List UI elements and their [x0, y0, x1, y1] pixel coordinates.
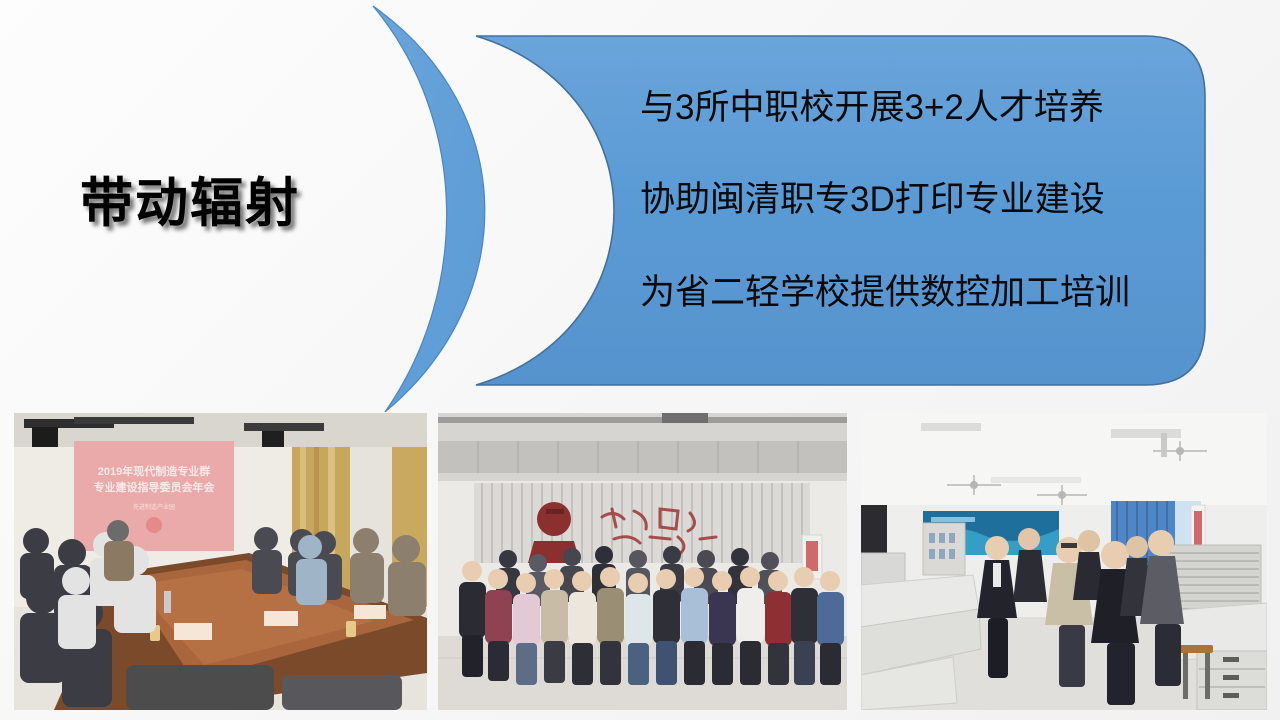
svg-text:专业建设指导委员会年会: 专业建设指导委员会年会	[94, 480, 216, 494]
photo-group-portrait	[438, 413, 847, 710]
callout-line-2: 协助闽清职专3D打印专业建设	[640, 180, 1200, 220]
callout-text-block: 与3所中职校开展3+2人才培养 协助闽清职专3D打印专业建设 为省二轻学校提供数…	[640, 88, 1200, 313]
photo-conference-room: 2019年现代制造专业群 专业建设指导委员会年会 先进制造产业园	[14, 413, 427, 710]
svg-text:2019年现代制造专业群: 2019年现代制造专业群	[98, 464, 210, 478]
diagram-region: 带动辐射 与3所中职校开展3+2人才培养 协助闽清职专3D打印专业建设 为省二轻…	[0, 0, 1280, 412]
callout-line-1: 与3所中职校开展3+2人才培养	[640, 88, 1200, 128]
crescent-arc-shape	[373, 6, 485, 412]
photo-group-portrait-image	[438, 413, 847, 710]
photo-conference-room-image: 2019年现代制造专业群 专业建设指导委员会年会 先进制造产业园	[14, 413, 427, 710]
svg-text:先进制造产业园: 先进制造产业园	[133, 503, 175, 511]
page-title: 带动辐射	[0, 175, 380, 233]
photo-strip: 2019年现代制造专业群 专业建设指导委员会年会 先进制造产业园	[0, 412, 1280, 720]
photo-lab-visit	[861, 413, 1267, 710]
callout-line-3: 为省二轻学校提供数控加工培训	[640, 273, 1200, 313]
slide-canvas: 带动辐射 与3所中职校开展3+2人才培养 协助闽清职专3D打印专业建设 为省二轻…	[0, 0, 1280, 720]
photo-lab-visit-image	[861, 413, 1267, 710]
